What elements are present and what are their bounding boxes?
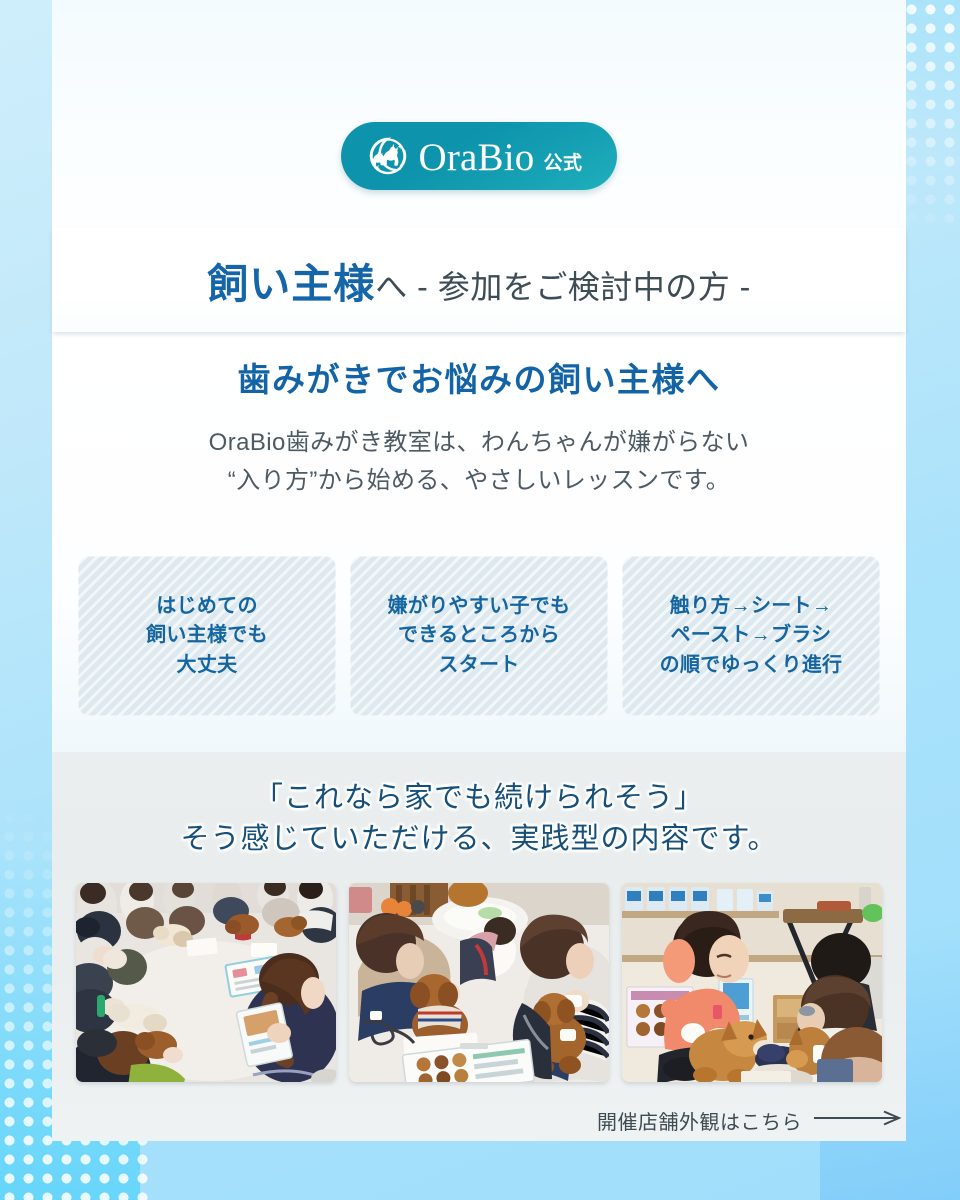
photo-instructor-demo[interactable] bbox=[622, 883, 882, 1082]
store-exterior-link-label[interactable]: 開催店舗外観はこちら bbox=[597, 1106, 802, 1135]
quote-block: 「これなら家でも続けられそう」 そう感じていただける、実践型の内容です。 bbox=[52, 778, 906, 860]
feature-card: 触り方→シート→ ペースト→ブラシ の順でゆっくり進行 bbox=[622, 556, 880, 716]
headline-remainder: へ - 参加をご検討中の方 - bbox=[375, 269, 751, 305]
lead-paragraph-line-1: OraBio歯みがき教室は、わんちゃんが嫌がらない bbox=[52, 424, 906, 463]
orabio-logo-badge[interactable]: OraBio 公式 bbox=[341, 122, 616, 190]
photo-row bbox=[76, 883, 882, 1082]
headline-band-text: 飼い主様へ - 参加をご検討中の方 - bbox=[52, 250, 906, 310]
headline-emphasis: 飼い主様 bbox=[207, 261, 375, 307]
photo-hands-on-brushing[interactable] bbox=[349, 883, 609, 1082]
quote-line-2: そう感じていただける、実践型の内容です。 bbox=[52, 819, 906, 860]
logo-wordmark: OraBio bbox=[418, 138, 534, 177]
lead-paragraph: OraBio歯みがき教室は、わんちゃんが嫌がらない “入り方”から始める、やさし… bbox=[52, 424, 906, 502]
feature-card: 嫌がりやすい子でも できるところから スタート bbox=[350, 556, 608, 716]
lead-section: 歯みがきでお悩みの飼い主様へ OraBio歯みがき教室は、わんちゃんが嫌がらない… bbox=[52, 360, 906, 501]
feature-card-text: はじめての 飼い主様でも 大丈夫 bbox=[140, 592, 274, 681]
feature-card-text: 嫌がりやすい子でも できるところから スタート bbox=[382, 592, 577, 681]
feature-card: はじめての 飼い主様でも 大丈夫 bbox=[78, 556, 336, 716]
headline-band: 飼い主様へ - 参加をご検討中の方 - bbox=[52, 228, 906, 332]
quote-line-1: 「これなら家でも続けられそう」 bbox=[52, 778, 906, 819]
logo-row: OraBio 公式 bbox=[52, 122, 906, 190]
content-panel: OraBio 公式 飼い主様へ - 参加をご検討中の方 - 歯みがきでお悩みの飼… bbox=[52, 0, 906, 1141]
footer-caption-row[interactable]: 開催店舗外観はこちら bbox=[52, 1095, 906, 1145]
feature-card-row: はじめての 飼い主様でも 大丈夫 嫌がりやすい子でも できるところから スタート… bbox=[78, 556, 880, 716]
lead-heading: 歯みがきでお悩みの飼い主様へ bbox=[52, 360, 906, 400]
feature-card-text: 触り方→シート→ ペースト→ブラシ の順でゆっくり進行 bbox=[654, 592, 849, 681]
page-background: OraBio 公式 飼い主様へ - 参加をご検討中の方 - 歯みがきでお悩みの飼… bbox=[0, 0, 960, 1200]
cat-dog-circle-icon bbox=[367, 135, 409, 177]
logo-official-suffix: 公式 bbox=[544, 154, 583, 173]
lead-paragraph-line-2: “入り方”から始める、やさしいレッスンです。 bbox=[52, 462, 906, 501]
long-right-arrow-icon bbox=[814, 1110, 906, 1131]
photo-group-class-circle[interactable] bbox=[76, 883, 336, 1082]
